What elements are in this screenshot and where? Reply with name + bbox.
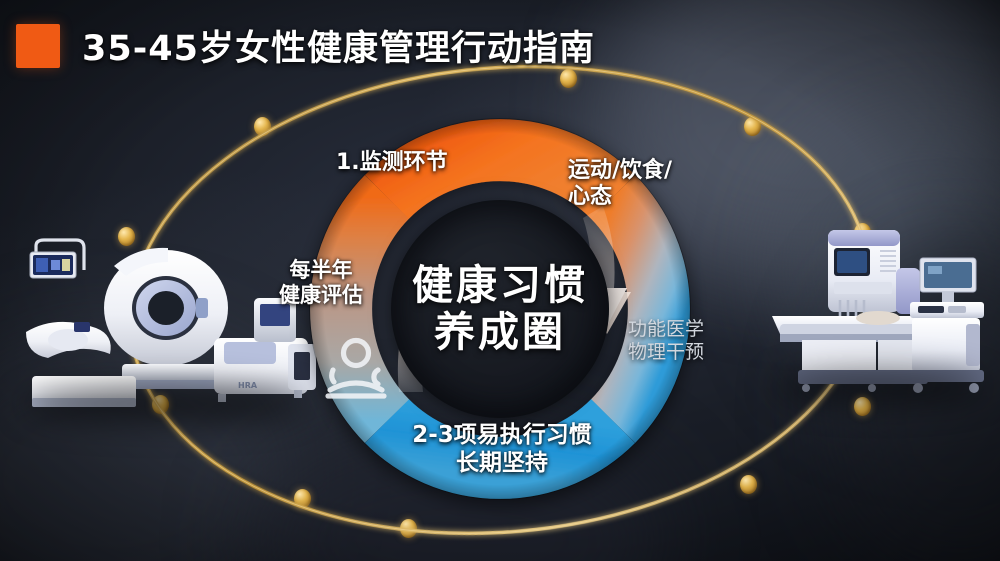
label-functional-medicine: 功能医学 物理干预 [628,318,778,364]
page-title: 35-45岁女性健康管理行动指南 [82,20,595,71]
infographic-canvas: HRA [0,0,1000,561]
label-lifestyle: 运动/饮食/ 心态 [568,158,718,211]
label-health-assessment: 每半年 健康评估 [258,258,384,308]
meditation-person-icon [320,334,394,400]
center-title-line1: 健康习惯 [412,262,588,309]
center-title-line2: 养成圈 [434,309,566,356]
page-title-bar: 35-45岁女性健康管理行动指南 [16,20,595,71]
treatment-workstation-equipment [770,212,992,407]
donut-center-hub: 健康习惯 养成圈 [391,200,609,418]
label-habits: 2-3项易执行习惯 长期坚持 [378,422,626,477]
title-marker-square [16,24,60,68]
label-monitoring-step: 1.监测环节 [336,150,496,176]
